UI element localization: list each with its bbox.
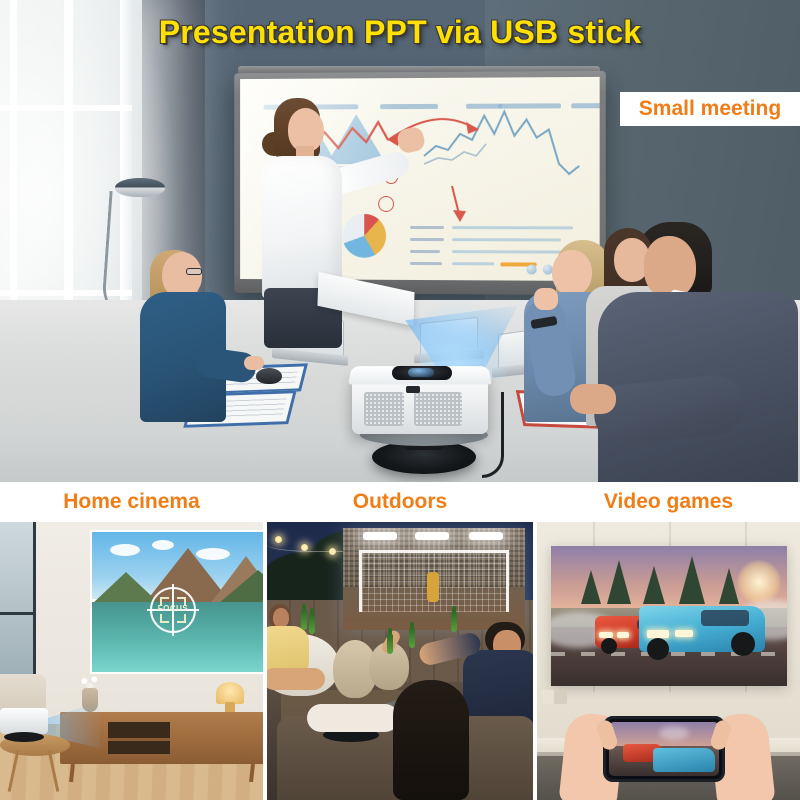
- product-feature-collage: Presentation PPT via USB stick Small mee…: [0, 0, 800, 800]
- projector-vent: [364, 392, 404, 426]
- cloud: [110, 544, 140, 556]
- phone-smoke: [659, 726, 689, 740]
- goalkeeper: [427, 572, 439, 602]
- attendee-right-woman1-hand: [534, 288, 558, 310]
- reticle-corner: [177, 614, 186, 623]
- attendee-right-man-hands: [570, 384, 616, 414]
- panel-home-cinema: Home cinema: [0, 482, 263, 800]
- phone-race-car-blue: [653, 748, 715, 772]
- beer-bottle: [301, 610, 307, 630]
- reticle-corner: [160, 614, 169, 623]
- guest1-head: [273, 608, 289, 628]
- open-book: [541, 690, 567, 704]
- console-shelf-divider: [108, 738, 170, 741]
- whiteboard-button-icon[interactable]: [527, 265, 537, 275]
- projected-image: FOCUS: [92, 532, 263, 672]
- focus-label: FOCUS: [147, 604, 199, 613]
- projected-image: [551, 546, 787, 686]
- beer-bottle: [451, 612, 457, 632]
- beer-bottle: [409, 628, 415, 648]
- small-meeting-label: Small meeting: [620, 92, 800, 126]
- car-windshield: [701, 610, 749, 626]
- pine-tree: [581, 570, 601, 604]
- smartphone[interactable]: [603, 716, 725, 782]
- focus-reticle-icon: FOCUS: [147, 584, 199, 636]
- computer-mouse: [256, 368, 282, 384]
- guest4-hair: [393, 680, 469, 800]
- projector-stand: [4, 732, 44, 742]
- projector-vent: [414, 392, 462, 426]
- guest1-legs: [267, 668, 325, 690]
- car-headlight: [647, 630, 669, 638]
- video-games-photo: [537, 522, 800, 800]
- window-mullion: [0, 612, 36, 615]
- stadium-floodlight: [469, 532, 503, 540]
- string-light-bulb: [329, 548, 336, 555]
- panel-caption-text: Video games: [604, 490, 733, 514]
- string-light-bulb: [301, 544, 308, 551]
- hill: [218, 570, 263, 604]
- panel-caption-text: Home cinema: [63, 490, 200, 514]
- attendee-right-man-head: [644, 236, 696, 298]
- car-wheel: [647, 638, 669, 660]
- pine-tree: [719, 568, 739, 604]
- stadium-floodlight: [415, 532, 449, 540]
- home-cinema-photo: FOCUS: [0, 522, 263, 800]
- car-headlight: [599, 632, 613, 638]
- car-wheel: [601, 638, 617, 654]
- power-cable: [482, 392, 504, 478]
- pine-tree: [607, 560, 631, 604]
- phone-screen[interactable]: [609, 722, 719, 776]
- string-light-bulb: [275, 536, 282, 543]
- outdoors-photo: [267, 522, 533, 800]
- projector-device: [0, 708, 48, 734]
- small-meeting-label-text: Small meeting: [639, 97, 781, 121]
- car-wheel: [731, 632, 755, 656]
- stadium-floodlight: [363, 532, 397, 540]
- beer-bottle: [387, 634, 393, 654]
- hero-meeting-scene: Presentation PPT via USB stick Small mee…: [0, 0, 800, 482]
- table-lamp-shade: [216, 682, 244, 704]
- panel-caption-outdoors: Outdoors: [267, 482, 533, 522]
- guest4-arm: [307, 704, 399, 732]
- pine-tree: [643, 566, 665, 604]
- attendee-right-woman1-head: [552, 250, 592, 296]
- attendee-left-hand: [244, 356, 264, 370]
- projected-image: [343, 528, 525, 630]
- panel-caption-home-cinema: Home cinema: [0, 482, 263, 522]
- pine-tree: [679, 556, 705, 604]
- track-marking: [551, 652, 787, 656]
- panel-caption-text: Outdoors: [353, 490, 448, 514]
- beer-bottle: [309, 614, 315, 634]
- car-headlight: [675, 630, 693, 637]
- projector-lens-glass: [408, 368, 434, 377]
- use-case-panels: Home cinema: [0, 482, 800, 800]
- panel-caption-video-games: Video games: [537, 482, 800, 522]
- projector-ir-sensor: [406, 386, 420, 393]
- eyeglasses: [186, 268, 202, 275]
- car-headlight: [617, 632, 629, 638]
- panel-video-games: Video games: [537, 482, 800, 800]
- sun-glow: [737, 560, 781, 604]
- panel-outdoors: Outdoors: [267, 482, 533, 800]
